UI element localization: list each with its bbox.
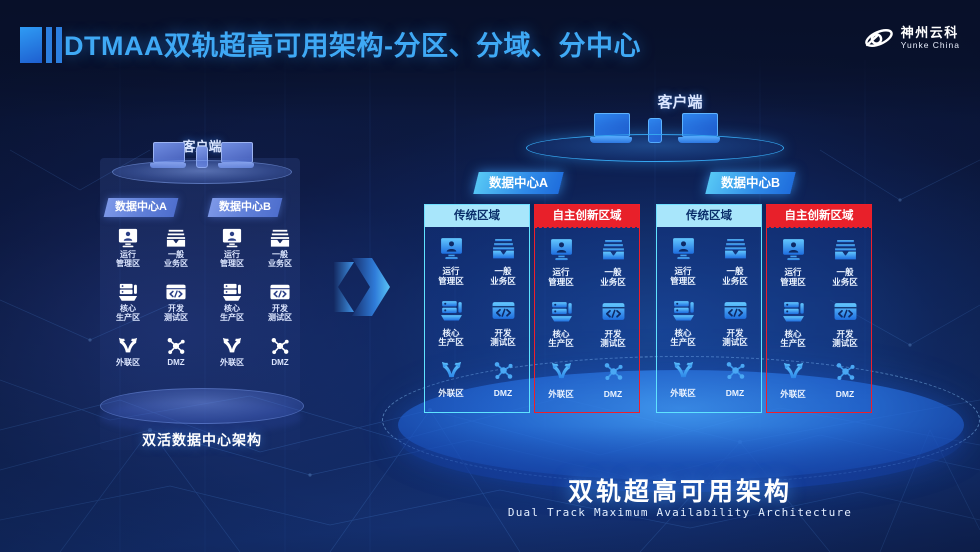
code-window-icon [491,299,516,327]
zone-label: 一般 业务区 [490,267,516,287]
zone-label: DMZ [494,389,512,399]
cross-arrows-icon [439,360,464,386]
swirl-logo-icon [864,25,894,51]
monitor-user-icon [439,237,464,265]
left-dc-a-badge[interactable]: 数据中心A [104,198,179,217]
server-stack-icon [439,299,464,327]
panel-header: 自主创新区域 [534,204,640,227]
code-window-icon [723,299,748,327]
zone-开发测试区[interactable]: 开发 测试区 [152,282,200,323]
zone-开发测试区[interactable]: 开发 测试区 [477,295,529,349]
zone-开发测试区[interactable]: 开发 测试区 [256,282,304,323]
zone-dmz[interactable]: DMZ [709,356,761,399]
zone-一般业务区[interactable]: 一般 业务区 [256,228,304,269]
zone-外联区[interactable]: 外联区 [208,336,256,368]
zone-运行管理区[interactable]: 运行 管理区 [535,234,587,288]
right-dc-a-badge-label: 数据中心A [489,172,548,194]
left-base-platform [100,388,304,424]
zone-核心生产区[interactable]: 核心 生产区 [767,296,819,350]
molecule-node-icon [269,336,291,356]
zone-label: 运行 管理区 [670,267,696,287]
zone-label: DMZ [836,390,854,400]
cross-arrows-icon [781,361,806,387]
logo-text-cn: 神州云科 [901,26,960,41]
inbox-tray-icon [491,237,516,265]
panel-body: 运行 管理区 一般 业务区 核心 生产区 开发 测试区 [534,227,640,413]
right-client-platform [526,134,784,162]
zone-label: 外联区 [220,359,244,368]
monitor-user-icon [781,238,806,266]
zone-dmz[interactable]: DMZ [152,336,200,368]
zone-label: 核心 生产区 [220,305,244,323]
panel-dc-b-traditional[interactable]: 传统区域 运行 管理区 一般 业务区 核心 生产区 [656,204,762,413]
inbox-tray-icon [833,238,858,266]
zone-label: 核心 生产区 [116,305,140,323]
zone-label: 运行 管理区 [780,268,806,288]
zone-外联区[interactable]: 外联区 [767,357,819,400]
zone-核心生产区[interactable]: 核心 生产区 [208,282,256,323]
zone-label: 核心 生产区 [670,329,696,349]
panel-body: 运行 管理区 一般 业务区 核心 生产区 开发 测试区 [766,227,872,413]
code-window-icon [269,282,291,302]
title-accent-bars-icon [20,27,62,63]
monitor-user-icon [671,237,696,265]
zone-label: 外联区 [116,359,140,368]
code-window-icon [165,282,187,302]
zone-外联区[interactable]: 外联区 [425,356,477,399]
zone-dmz[interactable]: DMZ [477,356,529,399]
right-architecture-diagram: 客户端 数据中心A 数据中心B 传统区域 运行 管理区 [380,86,980,526]
zone-dmz[interactable]: DMZ [587,357,639,400]
zone-label: 一般 业务区 [600,268,626,288]
zone-一般业务区[interactable]: 一般 业务区 [587,234,639,288]
zone-label: 外联区 [438,389,464,399]
zone-label: 一般 业务区 [268,251,292,269]
zone-运行管理区[interactable]: 运行 管理区 [657,233,709,287]
molecule-node-icon [601,361,626,387]
panel-header: 自主创新区域 [766,204,872,227]
zone-label: 运行 管理区 [548,268,574,288]
server-stack-icon [117,282,139,302]
monitor-user-icon [549,238,574,266]
zone-dmz[interactable]: DMZ [819,357,871,400]
page-title: DTMAA双轨超高可用架构-分区、分域、分中心 [64,24,641,63]
zone-核心生产区[interactable]: 核心 生产区 [535,296,587,350]
zone-label: 外联区 [670,389,696,399]
cross-arrows-icon [671,360,696,386]
zone-运行管理区[interactable]: 运行 管理区 [208,228,256,269]
right-dc-a-badge[interactable]: 数据中心A [473,172,564,194]
panel-dc-a-innovation[interactable]: 自主创新区域 运行 管理区 一般 业务区 核心 生产区 [534,204,640,413]
server-stack-icon [549,300,574,328]
panel-dc-a-traditional[interactable]: 传统区域 运行 管理区 一般 业务区 核心 生产区 [424,204,530,413]
zone-外联区[interactable]: 外联区 [535,357,587,400]
zone-label: 一般 业务区 [164,251,188,269]
zone-开发测试区[interactable]: 开发 测试区 [819,296,871,350]
zone-一般业务区[interactable]: 一般 业务区 [477,233,529,287]
logo-text-en: Yunke China [901,40,960,50]
zone-label: 一般 业务区 [722,267,748,287]
left-dc-b-badge[interactable]: 数据中心B [208,198,283,217]
right-client-label: 客户端 [380,91,980,112]
zone-一般业务区[interactable]: 一般 业务区 [152,228,200,269]
left-dc-b-badge-label: 数据中心B [219,198,271,217]
zone-label: 开发 测试区 [600,330,626,350]
server-stack-icon [221,282,243,302]
panel-header: 传统区域 [656,204,762,227]
zone-label: 核心 生产区 [548,330,574,350]
server-stack-icon [671,299,696,327]
zone-label: 运行 管理区 [220,251,244,269]
cross-arrows-icon [117,336,139,356]
server-stack-icon [781,300,806,328]
zone-运行管理区[interactable]: 运行 管理区 [104,228,152,269]
slide-header: DTMAA双轨超高可用架构-分区、分域、分中心 神州云科 Yunke China [0,0,980,88]
left-diagram-caption: 双活数据中心架构 [92,430,312,450]
zone-label: 开发 测试区 [164,305,188,323]
inbox-tray-icon [165,228,187,248]
brand-logo: 神州云科 Yunke China [864,25,960,51]
zone-label: 核心 生产区 [438,329,464,349]
right-diagram-caption-cn: 双轨超高可用架构 [380,472,980,508]
zone-运行管理区[interactable]: 运行 管理区 [425,233,477,287]
zone-label: 外联区 [548,390,574,400]
molecule-node-icon [723,360,748,386]
zone-核心生产区[interactable]: 核心 生产区 [104,282,152,323]
zone-label: 外联区 [780,390,806,400]
inbox-tray-icon [723,237,748,265]
zone-label: DMZ [604,390,622,400]
right-dc-b-badge-label: 数据中心B [721,172,780,194]
inbox-tray-icon [601,238,626,266]
cross-arrows-icon [221,336,243,356]
zone-label: 开发 测试区 [490,329,516,349]
panel-body: 运行 管理区 一般 业务区 核心 生产区 开发 测试区 [424,227,530,413]
zone-label: 开发 测试区 [832,330,858,350]
zone-label: 运行 管理区 [438,267,464,287]
zone-dmz[interactable]: DMZ [256,336,304,368]
code-window-icon [833,300,858,328]
monitor-user-icon [117,228,139,248]
zone-label: 核心 生产区 [780,330,806,350]
zone-外联区[interactable]: 外联区 [104,336,152,368]
panel-dc-b-innovation[interactable]: 自主创新区域 运行 管理区 一般 业务区 核心 生产区 [766,204,872,413]
zone-核心生产区[interactable]: 核心 生产区 [425,295,477,349]
right-diagram-caption-en: Dual Track Maximum Availability Architec… [380,506,980,519]
zone-一般业务区[interactable]: 一般 业务区 [709,233,761,287]
left-dc-b-zones: 运行 管理区 一般 业务区 核心 生产区 开发 测试区 [208,228,304,368]
right-dc-b-badge[interactable]: 数据中心B [705,172,796,194]
zone-label: 开发 测试区 [722,329,748,349]
zone-label: 开发 测试区 [268,305,292,323]
left-dc-a-badge-label: 数据中心A [115,198,167,217]
monitor-user-icon [221,228,243,248]
left-architecture-diagram: 客户端 数据中心A 运行 管理区 一般 业务区 [92,130,312,460]
zone-一般业务区[interactable]: 一般 业务区 [819,234,871,288]
zone-label: 运行 管理区 [116,251,140,269]
zone-label: DMZ [167,359,184,368]
inbox-tray-icon [269,228,291,248]
molecule-node-icon [165,336,187,356]
zone-开发测试区[interactable]: 开发 测试区 [709,295,761,349]
cross-arrows-icon [549,361,574,387]
molecule-node-icon [833,361,858,387]
panel-header: 传统区域 [424,204,530,227]
zone-label: DMZ [271,359,288,368]
left-dc-a-zones: 运行 管理区 一般 业务区 核心 生产区 开发 测试区 [104,228,200,368]
zone-运行管理区[interactable]: 运行 管理区 [767,234,819,288]
zone-外联区[interactable]: 外联区 [657,356,709,399]
zone-核心生产区[interactable]: 核心 生产区 [657,295,709,349]
zone-label: DMZ [726,389,744,399]
molecule-node-icon [491,360,516,386]
zone-label: 一般 业务区 [832,268,858,288]
zone-开发测试区[interactable]: 开发 测试区 [587,296,639,350]
panel-body: 运行 管理区 一般 业务区 核心 生产区 开发 测试区 [656,227,762,413]
code-window-icon [601,300,626,328]
slide-canvas: DTMAA双轨超高可用架构-分区、分域、分中心 神州云科 Yunke China… [0,0,980,552]
